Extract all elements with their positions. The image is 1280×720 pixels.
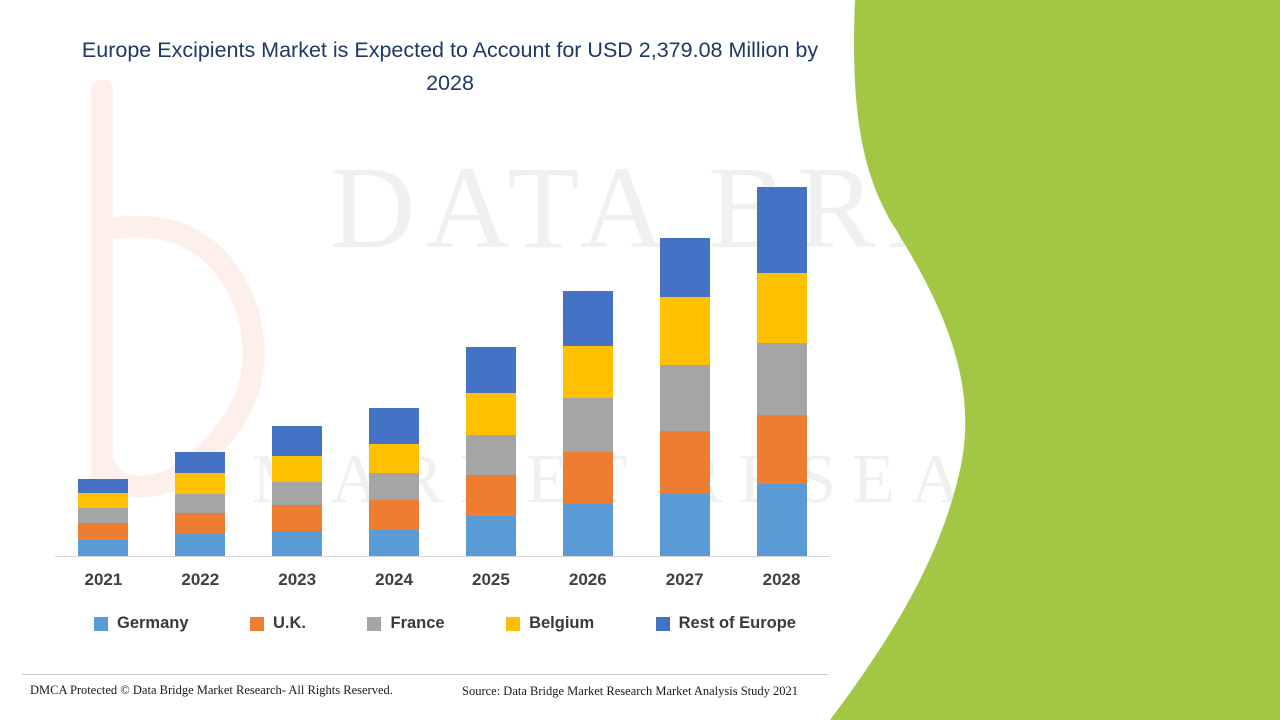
legend-item[interactable]: U.K. xyxy=(250,614,306,633)
bar-column xyxy=(346,408,442,556)
chart-legend: GermanyU.K.FranceBelgiumRest of Europe xyxy=(60,614,830,633)
x-axis-tick-label: 2024 xyxy=(346,566,442,598)
bar-segment xyxy=(175,513,225,534)
bar-segment xyxy=(660,494,710,556)
x-axis-labels: 20212022202320242025202620272028 xyxy=(55,566,830,598)
bar-segment xyxy=(369,530,419,556)
bar-segment xyxy=(466,393,516,435)
bar-segment xyxy=(757,273,807,343)
legend-label: Germany xyxy=(117,614,189,633)
copyright-notice: DMCA Protected © Data Bridge Market Rese… xyxy=(30,683,393,698)
legend-swatch-icon xyxy=(94,617,108,631)
stacked-bar-chart xyxy=(55,150,830,556)
bar-segment xyxy=(660,238,710,297)
green-side-panel: Europe Excipients Market, By 2028 2021 2… xyxy=(820,0,1280,720)
bar-segment xyxy=(78,493,128,508)
legend-item[interactable]: Rest of Europe xyxy=(656,614,796,633)
bar-column xyxy=(249,426,345,556)
legend-label: France xyxy=(390,614,444,633)
bar-segment xyxy=(78,523,128,540)
bar-segment xyxy=(757,415,807,484)
bar-segment xyxy=(272,531,322,556)
bar-segment xyxy=(466,435,516,475)
bar-segment xyxy=(466,516,516,556)
bar-segment xyxy=(272,456,322,482)
bar-segment xyxy=(272,505,322,531)
legend-label: U.K. xyxy=(273,614,306,633)
bar-segment xyxy=(78,508,128,523)
bar-segment xyxy=(757,484,807,556)
infographic-canvas: DATA BRIDGE MARKET RESEARCH Europe Excip… xyxy=(0,0,1280,720)
bar-segment xyxy=(175,534,225,556)
x-axis-tick-label: 2022 xyxy=(152,566,248,598)
bar-segment xyxy=(757,343,807,415)
x-axis-tick-label: 2021 xyxy=(55,566,151,598)
legend-item[interactable]: France xyxy=(367,614,444,633)
bar-segment xyxy=(78,479,128,493)
legend-swatch-icon xyxy=(250,617,264,631)
x-axis-tick-label: 2028 xyxy=(734,566,830,598)
chart-title: Europe Excipients Market is Expected to … xyxy=(60,34,840,100)
bar-column xyxy=(443,347,539,556)
bar-segment xyxy=(175,473,225,494)
legend-label: Belgium xyxy=(529,614,594,633)
bar-column xyxy=(540,291,636,556)
bar-column xyxy=(637,238,733,556)
footer-divider xyxy=(22,674,828,675)
legend-swatch-icon xyxy=(506,617,520,631)
bar-segment xyxy=(757,187,807,273)
legend-swatch-icon xyxy=(367,617,381,631)
bar-segment xyxy=(660,297,710,365)
source-note: Source: Data Bridge Market Research Mark… xyxy=(462,684,798,699)
x-axis-tick-label: 2026 xyxy=(540,566,636,598)
bar-segment xyxy=(563,291,613,346)
bar-segment xyxy=(563,346,613,398)
bar-segment xyxy=(466,347,516,393)
bar-segment xyxy=(175,452,225,473)
legend-item[interactable]: Germany xyxy=(94,614,189,633)
green-panel-shape xyxy=(820,0,1280,720)
bar-segment xyxy=(78,540,128,556)
bar-segment xyxy=(660,431,710,494)
bar-segment xyxy=(175,494,225,513)
bar-segment xyxy=(563,398,613,452)
bar-segment xyxy=(369,408,419,444)
bar-segment xyxy=(563,504,613,556)
bar-segment xyxy=(466,475,516,516)
legend-swatch-icon xyxy=(656,617,670,631)
bar-column xyxy=(152,452,248,556)
bar-segment xyxy=(660,365,710,431)
bar-segment xyxy=(369,444,419,473)
bar-segment xyxy=(369,473,419,500)
bar-segment xyxy=(272,482,322,505)
legend-label: Rest of Europe xyxy=(679,614,796,633)
legend-item[interactable]: Belgium xyxy=(506,614,594,633)
bar-segment xyxy=(369,500,419,530)
bar-segment xyxy=(272,426,322,456)
bar-segment xyxy=(563,452,613,504)
x-axis-tick-label: 2025 xyxy=(443,566,539,598)
bar-column xyxy=(55,479,151,556)
x-axis-tick-label: 2027 xyxy=(637,566,733,598)
x-axis-tick-label: 2023 xyxy=(249,566,345,598)
bar-column xyxy=(734,187,830,556)
x-axis-line xyxy=(55,556,830,557)
